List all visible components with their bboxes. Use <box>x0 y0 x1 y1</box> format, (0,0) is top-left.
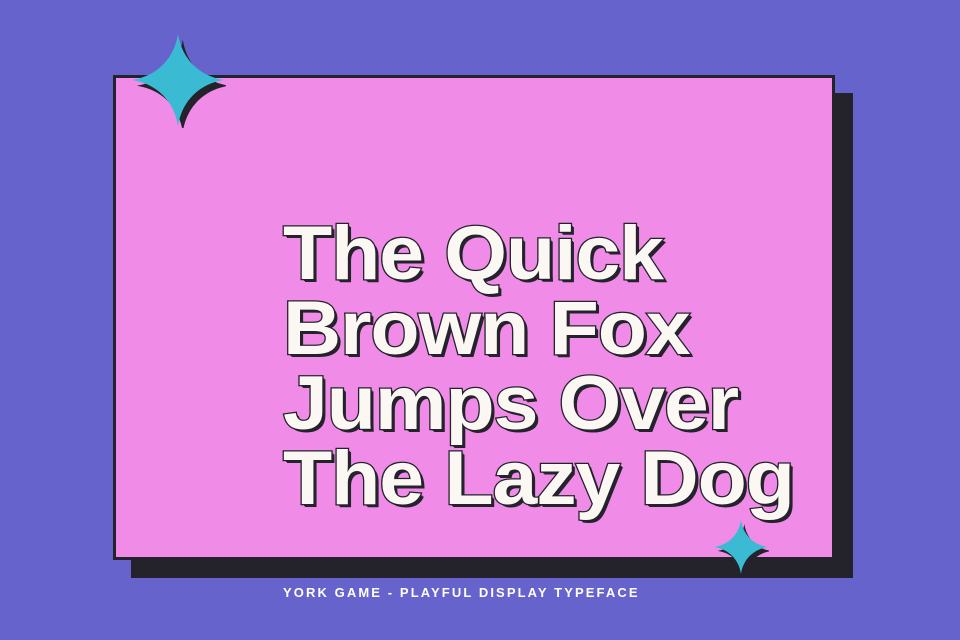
headline-line-4: The Lazy Dog <box>283 441 960 516</box>
headline-line-2: Brown Fox <box>283 291 960 366</box>
poster-card: The Quick Brown Fox Jumps Over The Lazy … <box>113 75 835 560</box>
headline-line-1: The Quick <box>283 216 960 291</box>
headline-line-3: Jumps Over <box>283 366 960 441</box>
caption-text: YORK GAME - PLAYFUL DISPLAY TYPEFACE <box>283 585 640 601</box>
headline-block: The Quick Brown Fox Jumps Over The Lazy … <box>283 216 923 516</box>
sparkle-icon <box>130 32 226 128</box>
sparkle-icon <box>713 519 769 575</box>
poster-canvas: The Quick Brown Fox Jumps Over The Lazy … <box>0 0 960 640</box>
